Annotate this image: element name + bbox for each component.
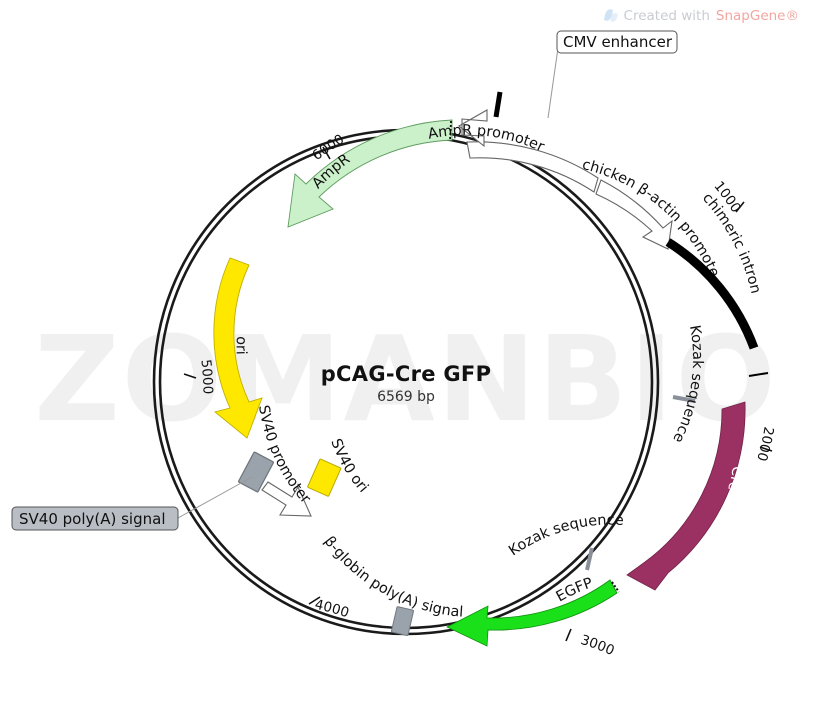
feature-kozak-sequence-2[interactable] [587,548,592,570]
label-ori: ori [233,336,249,355]
leader-cmv-enhancer [548,48,558,118]
callout-label-cmv-enhancer: CMV enhancer [563,33,673,51]
feature-beta-globin-polya-signal[interactable] [391,607,413,636]
feature-ampr[interactable] [288,120,452,227]
feature-sv40-ori[interactable] [307,459,341,497]
origin-tick [496,92,500,117]
callout-label-sv40-polya-signal: SV40 poly(A) signal [19,510,165,528]
plasmid-size-label: 6569 bp [377,389,435,405]
plasmid-diagram: ZOMANBIO 1000 2000 3000 4000 5000 [0,0,813,709]
plasmid-map-canvas: Created with SnapGene® ZOM [0,0,813,709]
tick-label-3000: 3000 [579,632,617,659]
page-title: pCAG-Cre GFP [321,362,492,386]
